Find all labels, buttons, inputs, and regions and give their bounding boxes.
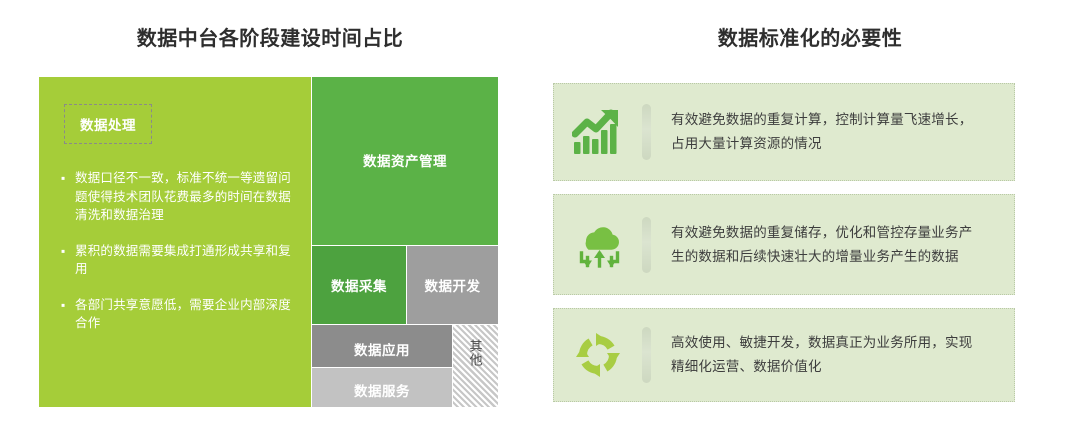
treemap-tile-data-processing[interactable]: 数据处理 ▪ 数据口径不一致，标准不统一等遗留问题使得技术团队花费最多的时间在数…	[39, 77, 311, 407]
treemap-tile-data-collection[interactable]: 数据采集	[312, 246, 406, 324]
data-processing-label-box: 数据处理	[64, 104, 152, 144]
bullet-text: 数据口径不一致，标准不统一等遗留问题使得技术团队花费最多的时间在数据清洗和数据治…	[75, 169, 297, 225]
benefit-card-list: 有效避免数据的重复计算，控制计算量飞速增长，占用大量计算资源的情况	[553, 83, 1015, 415]
treemap-tile-label: 数据资产管理	[312, 150, 498, 170]
benefit-card-text: 有效避免数据的重复储存，优化和管控存量业务产生的数据和后续快速壮大的增量业务产生…	[651, 221, 1014, 269]
cloud-data-transfer-icon	[554, 221, 642, 269]
benefit-card[interactable]: 有效避免数据的重复计算，控制计算量飞速增长，占用大量计算资源的情况	[553, 83, 1015, 181]
treemap-tile-label: 数据服务	[312, 380, 452, 400]
benefit-card-text: 有效避免数据的重复计算，控制计算量飞速增长，占用大量计算资源的情况	[651, 108, 1014, 156]
list-item: ▪ 各部门共享意愿低，需要企业内部深度合作	[59, 296, 297, 333]
treemap-tile-label: 数据处理	[80, 114, 136, 134]
list-item: ▪ 累积的数据需要集成打通形成共享和复用	[59, 242, 297, 279]
bullet-marker-icon: ▪	[59, 296, 75, 333]
bullet-marker-icon: ▪	[59, 169, 75, 225]
slide-canvas: 数据中台各阶段建设时间占比 数据处理 ▪ 数据口径不一致，标准不统一等遗留问题使…	[0, 0, 1080, 426]
card-accent-divider	[642, 327, 651, 383]
treemap-tile-label: 其他	[468, 339, 484, 367]
bullet-text: 各部门共享意愿低，需要企业内部深度合作	[75, 296, 297, 333]
treemap-tile-data-application[interactable]: 数据应用	[312, 325, 452, 367]
list-item: ▪ 数据口径不一致，标准不统一等遗留问题使得技术团队花费最多的时间在数据清洗和数…	[59, 169, 297, 225]
bullet-list: ▪ 数据口径不一致，标准不统一等遗留问题使得技术团队花费最多的时间在数据清洗和数…	[59, 169, 297, 350]
treemap-chart: 数据处理 ▪ 数据口径不一致，标准不统一等遗留问题使得技术团队花费最多的时间在数…	[39, 77, 498, 407]
right-panel-title: 数据标准化的必要性	[540, 22, 1080, 51]
treemap-tile-label: 数据应用	[312, 339, 452, 359]
benefit-card[interactable]: 有效避免数据的重复储存，优化和管控存量业务产生的数据和后续快速壮大的增量业务产生…	[553, 194, 1015, 295]
bullet-text: 累积的数据需要集成打通形成共享和复用	[75, 242, 297, 279]
treemap-tile-label: 数据开发	[407, 275, 498, 295]
left-panel-title: 数据中台各阶段建设时间占比	[0, 22, 540, 51]
recycle-refresh-icon	[554, 330, 642, 380]
treemap-tile-other[interactable]: 其他	[453, 325, 498, 407]
treemap-tile-data-service[interactable]: 数据服务	[312, 368, 452, 407]
card-accent-divider	[642, 217, 651, 273]
treemap-tile-data-development[interactable]: 数据开发	[407, 246, 498, 324]
benefit-card[interactable]: 高效使用、敏捷开发，数据真正为业务所用，实现精细化运营、数据价值化	[553, 308, 1015, 402]
growth-bar-chart-arrow-icon	[554, 108, 642, 156]
card-accent-divider	[642, 104, 651, 160]
benefit-card-text: 高效使用、敏捷开发，数据真正为业务所用，实现精细化运营、数据价值化	[651, 331, 1014, 379]
bullet-marker-icon: ▪	[59, 242, 75, 279]
treemap-tile-data-asset-management[interactable]: 数据资产管理	[312, 77, 498, 245]
treemap-tile-label: 数据采集	[312, 275, 406, 295]
